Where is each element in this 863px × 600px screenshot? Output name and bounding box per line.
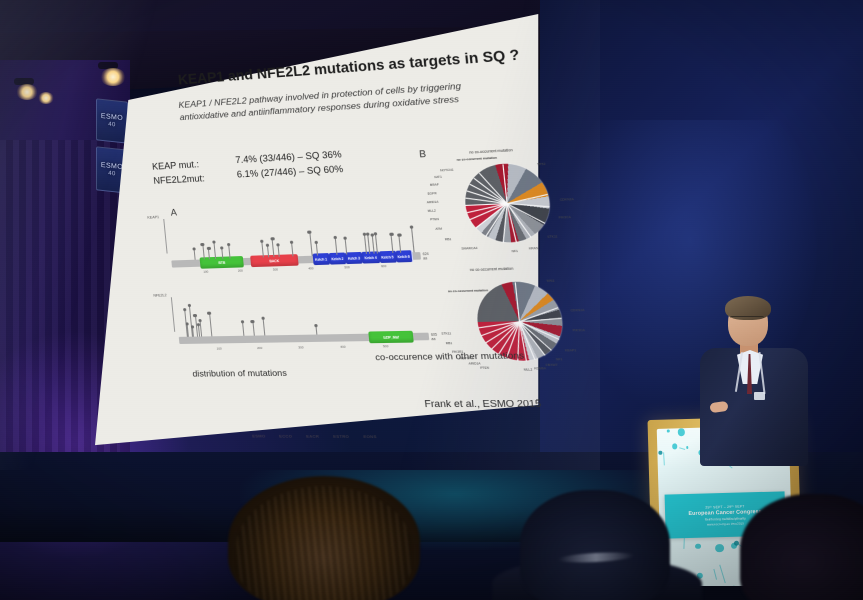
pie-slice-label: RB1 — [445, 237, 452, 242]
pie-slice-label: MLL2 — [427, 208, 436, 213]
pie-slice-label: no co-occurrent mutation — [456, 156, 497, 162]
mutation-lollipop — [209, 314, 212, 337]
pie-chart-keap1-cooccurrence: no co-occurrent mutation TP53CDKN2APIK3C… — [430, 142, 594, 263]
molecule-dot — [715, 544, 724, 553]
mutation-marker — [186, 322, 190, 325]
mutation-lollipop — [194, 249, 196, 259]
molecule-bond — [663, 452, 665, 466]
mutation-lollipop — [316, 326, 318, 334]
axis-tick-label: 100 — [203, 270, 208, 274]
mutation-marker — [276, 243, 280, 246]
pie-slice-label: EGFR — [427, 191, 437, 196]
mutation-stat-values: 7.4% (33/446) – SQ 36% 6.1% (27/446) – S… — [235, 148, 344, 183]
presentation-slide: KEAP1 and NFE2L2 mutations as targets in… — [100, 0, 635, 441]
axis-tick-label: 200 — [257, 346, 262, 350]
mutation-marker — [261, 316, 265, 319]
molecule-dot — [677, 428, 685, 436]
mutation-lollipop — [252, 322, 254, 335]
pie-slice-label: KDM6A — [534, 366, 546, 371]
pie-slice-label: NF1 — [511, 249, 518, 254]
mutation-marker — [333, 235, 337, 238]
glasses-icon — [730, 316, 764, 324]
pie-slice-label: CDKN2A — [570, 308, 585, 313]
panel-label-b: B — [419, 148, 427, 159]
protein-domain: Kelch 6 — [395, 250, 413, 262]
mutation-lollipop — [263, 319, 266, 336]
pie-slice-label: ARID1A — [426, 199, 438, 204]
pie-slice-label: STK11 — [441, 332, 451, 336]
mutation-marker — [343, 236, 347, 239]
mutation-marker — [212, 240, 216, 243]
mutation-marker — [201, 243, 205, 246]
lollipop-chart-nfe2l2: NFE2L2 bZIP_Maf100200300400500605 aa — [166, 282, 439, 350]
mutation-marker — [366, 232, 370, 236]
sponsor-logo: ECCO — [278, 428, 293, 443]
pie-slice-label: BRAF — [430, 182, 439, 187]
pie-slice-label: ATM — [435, 227, 442, 232]
mutation-marker — [290, 240, 294, 243]
mutation-marker — [307, 230, 311, 233]
stat-label-nfe2l2: NFE2L2mut: — [153, 172, 205, 189]
protein-length-label: 624 aa — [423, 252, 431, 261]
mutation-marker — [193, 247, 197, 250]
molecule-dot — [667, 430, 670, 433]
protein-domain: Kelch 5 — [378, 251, 397, 263]
pie-body — [461, 162, 553, 244]
pie-slice-label: FAT1 — [434, 175, 442, 180]
speaker — [694, 296, 814, 466]
mutation-lollipop — [345, 239, 348, 255]
sponsor-logo: EONS — [363, 428, 378, 443]
mutation-marker — [271, 237, 275, 240]
axis-tick-label: 400 — [340, 345, 346, 349]
mutation-marker — [315, 240, 319, 243]
pie-top-label: no co-occurrent mutation — [470, 266, 514, 272]
mutation-marker — [193, 314, 197, 317]
mutation-lollipop — [291, 243, 293, 257]
mutation-marker — [191, 325, 195, 328]
mutation-lollipop — [242, 322, 244, 335]
mutation-lollipop — [261, 242, 264, 258]
audience-hair-left — [236, 486, 412, 600]
axis-tick-label: 100 — [216, 346, 221, 350]
mutation-lollipop — [316, 243, 318, 256]
pie-slice-label: PTEN — [430, 217, 439, 222]
mutation-marker — [397, 233, 401, 237]
mutation-lollipop — [200, 321, 203, 336]
y-axis-label: NFE2L2 — [150, 293, 166, 297]
lollipop-chart-keap1: KEAP1 BTBBACKKelch 1Kelch 2Kelch 3Kelch … — [158, 199, 430, 274]
pie-slice-label: FBXW7 — [546, 363, 558, 368]
axis-tick-label: 300 — [273, 267, 279, 271]
pie-slice-label: CDKN2A — [560, 196, 574, 201]
pie-slice-label: KRAS — [529, 246, 539, 251]
molecule-dot — [658, 451, 662, 455]
audience-head-right — [520, 490, 670, 600]
pie-slice-label: NF1 — [556, 357, 563, 361]
mutation-marker — [220, 246, 224, 249]
y-axis-label: KEAP1 — [143, 215, 159, 220]
axis-tick-label: 200 — [238, 268, 243, 272]
audience-head-far-right — [740, 494, 863, 600]
mutation-marker — [314, 324, 318, 327]
pie-slice-label: PIK3CA — [572, 328, 585, 333]
caption-distribution: distribution of mutations — [192, 367, 287, 378]
congress-url: www.ecco-org.eu #ecc2015 — [707, 521, 744, 526]
mutation-lollipop — [267, 246, 269, 257]
mutation-marker — [207, 246, 211, 249]
mutation-marker — [251, 320, 255, 323]
mutation-lollipop — [222, 248, 224, 258]
molecule-bond — [683, 538, 685, 549]
pie-slice-label: SMARCA4 — [461, 246, 477, 251]
molecule-bond — [719, 565, 726, 583]
mutation-stat-labels: KEAP mut.: NFE2L2mut: — [152, 158, 206, 189]
projection-screen-area: KEAP1 and NFE2L2 mutations as targets in… — [0, 0, 600, 470]
speaker-badge — [754, 392, 765, 400]
mutation-lollipop — [192, 327, 194, 336]
mutation-marker — [183, 308, 187, 311]
pie-slice-separator — [515, 282, 520, 321]
pie-slice-label: NOTCH1 — [440, 167, 454, 172]
mutation-marker — [374, 232, 378, 236]
mutation-lollipop — [187, 324, 189, 336]
pie-slice-label: RB1 — [446, 341, 453, 345]
mutation-lollipop — [214, 243, 217, 259]
pie-slice-label: TP53 — [546, 279, 555, 284]
sponsor-logo: EACR — [305, 428, 319, 443]
mutation-lollipop — [309, 233, 312, 256]
molecule-dot — [695, 544, 701, 550]
protein-length-label: 605 aa — [431, 332, 439, 341]
mutation-lollipop — [202, 245, 204, 259]
pie-slice-label: TP53 — [537, 162, 546, 167]
axis-tick-label: 300 — [298, 345, 304, 349]
slide-credit: Frank et al., ESMO 2015 — [424, 398, 542, 409]
pie-slice-label: PTEN — [480, 366, 489, 370]
mutation-marker — [410, 225, 414, 229]
axis-tick-label: 600 — [381, 264, 387, 268]
caption-cooccurrence: co-occurence with other mutations — [375, 350, 525, 363]
sponsor-logo: ESTRO — [332, 428, 350, 443]
pie-slice-label: STK11 — [547, 234, 558, 239]
mutation-lollipop — [278, 245, 280, 256]
y-axis — [171, 297, 175, 332]
pie-slice-label: PIK3CA — [558, 215, 571, 220]
congress-title: European Cancer Congress — [688, 508, 762, 516]
y-axis — [163, 219, 167, 254]
axis-tick-label: 500 — [383, 344, 389, 348]
pie-slice-label: KEAP1 — [565, 347, 577, 352]
mutation-lollipop — [411, 228, 415, 253]
sponsor-logo: ESMO — [251, 428, 266, 443]
mutation-lollipop — [208, 249, 210, 259]
axis-tick-label: 500 — [344, 265, 350, 269]
conference-photo-scene: ESMO 40 ESMO 40 KEAP1 and NFE2L2 mutatio… — [0, 0, 863, 600]
pie-slice-label: ARID1A — [468, 362, 480, 366]
mutation-marker — [187, 303, 191, 306]
mutation-marker — [198, 319, 202, 322]
pie-top-label: no co-occurrent mutation — [469, 148, 513, 155]
mutation-marker — [227, 243, 231, 246]
pie-slice-label: MLL2 — [524, 367, 533, 371]
mutation-marker — [196, 323, 200, 326]
mutation-marker — [390, 232, 394, 236]
axis-tick-label: 400 — [308, 266, 314, 270]
protein-domain: bZIP_Maf — [368, 331, 413, 343]
molecule-dot — [672, 443, 678, 449]
mutation-marker — [265, 243, 269, 246]
mutation-marker — [260, 239, 264, 242]
mutation-marker — [241, 320, 245, 323]
mutation-marker — [207, 311, 211, 314]
molecule-bond — [713, 569, 717, 580]
sponsor-logo-row: ESMOECCOEACRESTROEONS — [251, 424, 530, 449]
pie-chart-nfe2l2-cooccurrence: no co-occurrent mutation TP53CDKN2APIK3C… — [442, 262, 606, 380]
mutation-lollipop — [229, 245, 231, 258]
pie-slice-label: no co-occurrent mutation — [448, 288, 489, 293]
